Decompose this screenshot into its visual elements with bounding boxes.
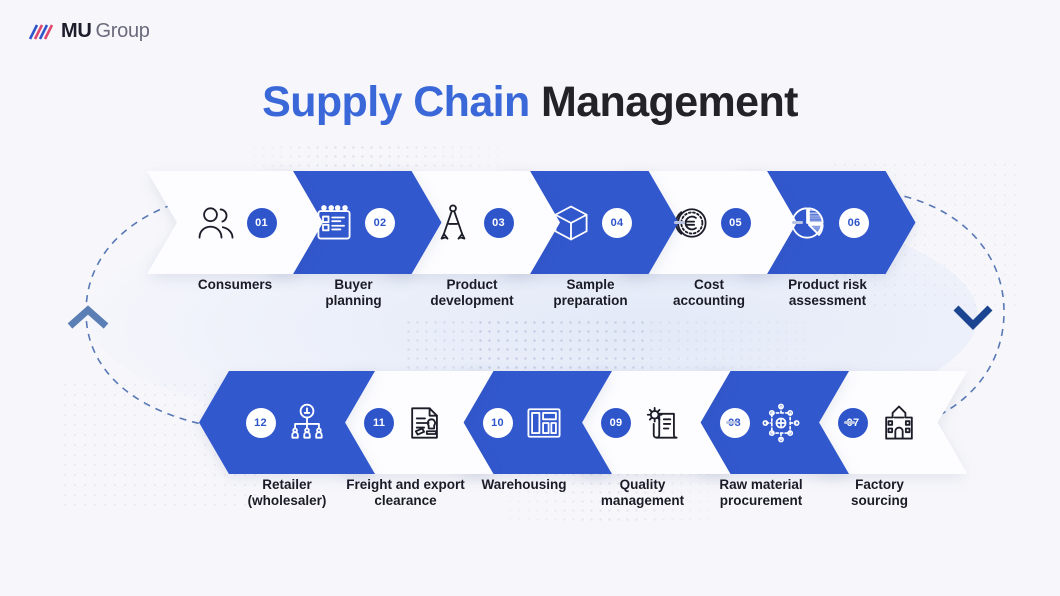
users-icon	[194, 201, 238, 245]
brand-name-light: Group	[96, 20, 150, 43]
process-row-top: 01Consumers 02Buyer planning 03Product d…	[0, 171, 1060, 286]
brand-name-bold: MU	[61, 20, 92, 43]
process-step-label: Factory sourcing	[780, 477, 980, 509]
process-step-body: 12	[199, 371, 375, 474]
step-connector	[844, 421, 855, 424]
atom-network-icon	[759, 401, 803, 445]
brand-name: MU Group	[61, 20, 150, 43]
brand-logo: MU Group	[28, 20, 150, 43]
chevron-down-arrow-icon	[956, 308, 990, 325]
page-title-accent: Supply Chain	[262, 78, 530, 126]
step-number-badge: 12	[246, 408, 276, 438]
step-number-badge: 03	[484, 208, 514, 238]
page-title: Supply Chain Management	[0, 78, 1060, 127]
step-number-badge: 02	[365, 208, 395, 238]
step-connector	[726, 421, 737, 424]
process-step-12[interactable]: 12	[199, 371, 375, 474]
page-title-plain: Management	[530, 78, 798, 126]
step-number-badge: 04	[602, 208, 632, 238]
factory-icon	[877, 401, 921, 445]
step-number-badge: 05	[721, 208, 751, 238]
warehouse-grid-icon	[522, 401, 566, 445]
halftone-dots-middle-left	[404, 318, 644, 376]
process-step-label: Product risk assessment	[728, 277, 928, 309]
chevron-up-arrow-icon	[70, 310, 106, 326]
stamped-document-icon	[403, 401, 447, 445]
step-connector	[792, 221, 803, 224]
org-network-icon	[285, 401, 329, 445]
step-number-badge: 01	[247, 208, 277, 238]
step-connector	[674, 221, 685, 224]
step-number-badge: 06	[839, 208, 869, 238]
diagonal-stripes-logo-icon	[28, 22, 54, 42]
process-row-bottom: 12 Retailer (wholesaler)11 Freight and e…	[0, 371, 1060, 486]
gear-document-icon	[640, 401, 684, 445]
process-step-body: 01	[147, 171, 323, 274]
process-step-01[interactable]: 01	[147, 171, 323, 274]
